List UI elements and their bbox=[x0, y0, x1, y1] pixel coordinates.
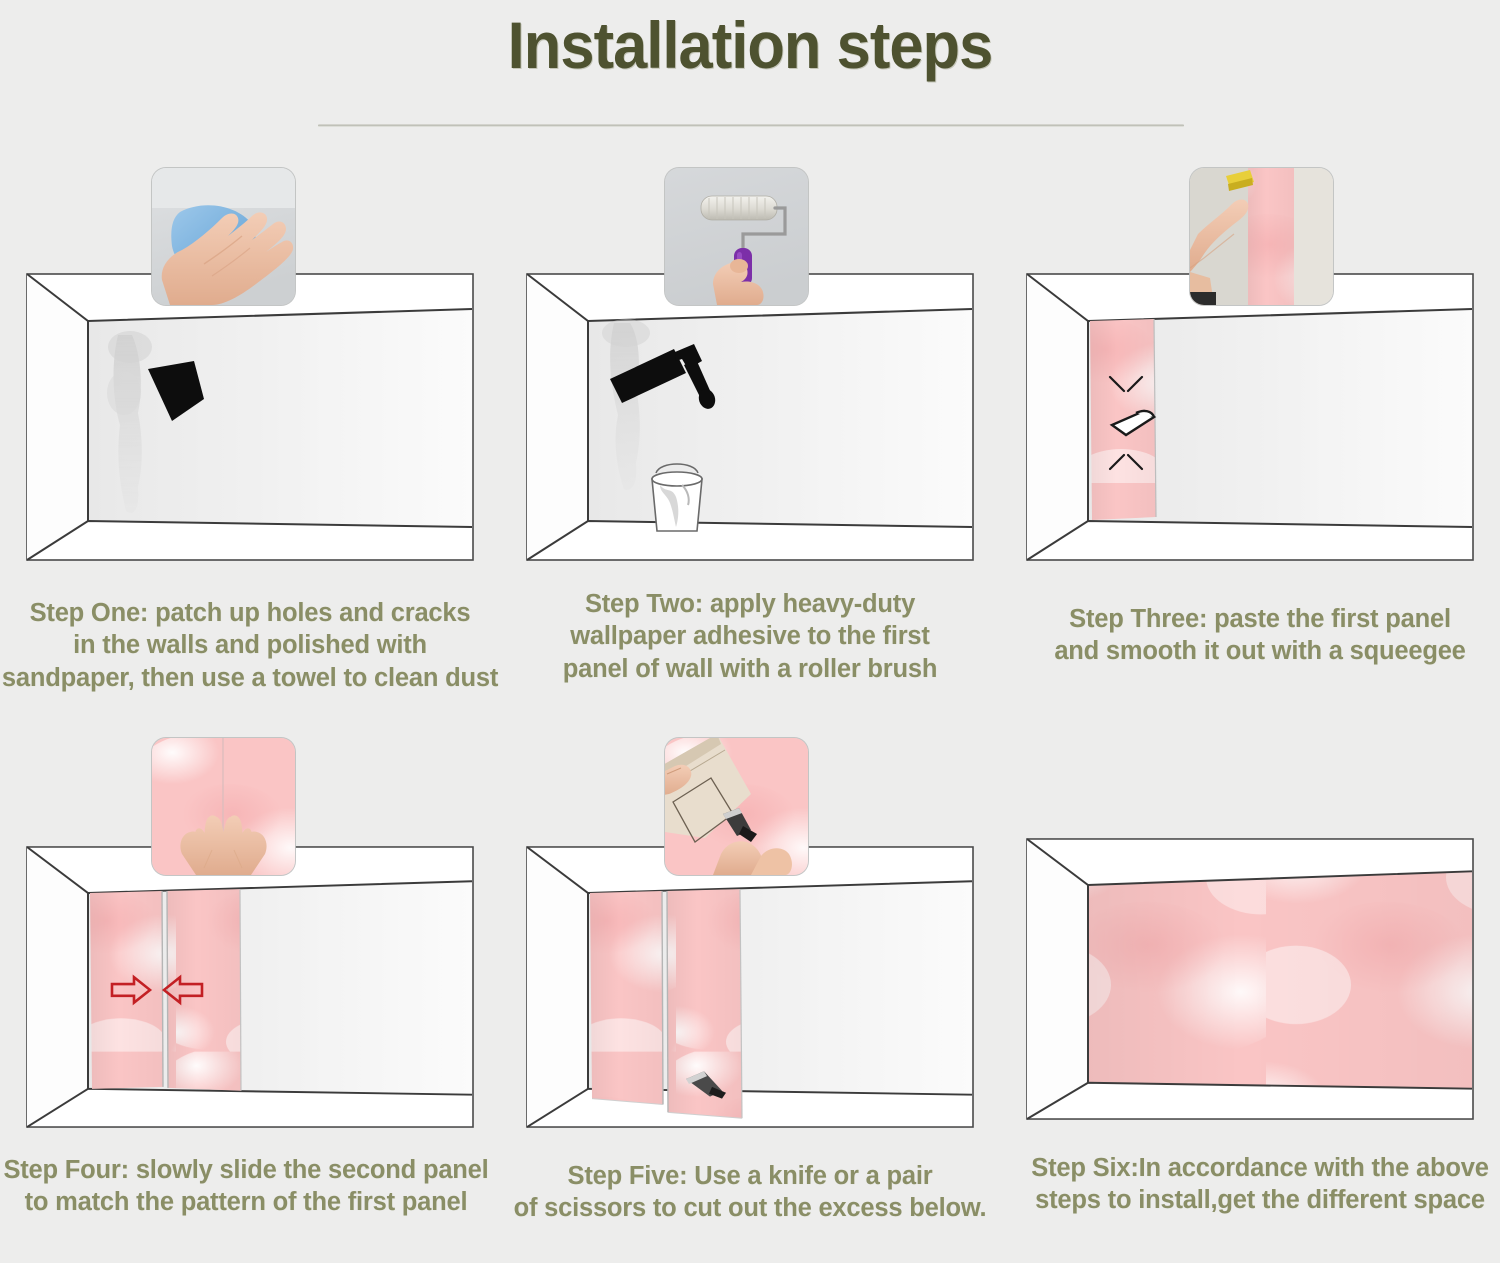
caption-line: steps to install,get the different space bbox=[1010, 1184, 1500, 1216]
step-three-photo bbox=[1190, 168, 1333, 305]
caption-line: Step One: patch up holes and cracks bbox=[0, 597, 500, 629]
step-four-room-diagram bbox=[26, 846, 474, 1128]
step-six-room-diagram bbox=[1026, 838, 1474, 1120]
title-divider bbox=[318, 124, 1184, 127]
header: Installation steps bbox=[0, 8, 1500, 84]
step-five-room-diagram bbox=[526, 846, 974, 1128]
step-two-room-diagram bbox=[526, 273, 974, 561]
step-one-photo bbox=[152, 168, 295, 305]
caption-line: wallpaper adhesive to the first bbox=[500, 620, 1000, 652]
step-four-photo bbox=[152, 738, 295, 875]
step-two-figure bbox=[500, 168, 1000, 568]
step-one-caption: Step One: patch up holes and cracks in t… bbox=[0, 597, 500, 694]
caption-line: of scissors to cut out the excess below. bbox=[500, 1192, 1000, 1224]
caption-line: Step Four: slowly slide the second panel bbox=[0, 1154, 496, 1186]
step-one-room-diagram bbox=[26, 273, 474, 561]
step-three-figure bbox=[1000, 168, 1500, 568]
caption-line: Step Three: paste the first panel bbox=[1010, 603, 1500, 635]
step-five-photo bbox=[665, 738, 808, 875]
step-card-three: Step Three: paste the first panel and sm… bbox=[1000, 168, 1500, 668]
step-five-figure bbox=[500, 738, 1000, 1138]
wallpaper-panel-two bbox=[167, 889, 241, 1091]
step-two-photo bbox=[665, 168, 808, 305]
step-one-figure bbox=[0, 168, 500, 568]
installation-steps-infographic: Installation steps bbox=[0, 0, 1500, 1263]
wallpaper-panel-one-with-excess bbox=[590, 891, 663, 1104]
caption-line: panel of wall with a roller brush bbox=[500, 653, 1000, 685]
caption-line: and smooth it out with a squeegee bbox=[1010, 635, 1500, 667]
glue-bucket-icon bbox=[652, 464, 702, 531]
step-four-caption: Step Four: slowly slide the second panel… bbox=[0, 1154, 496, 1219]
step-five-caption: Step Five: Use a knife or a pair of scis… bbox=[500, 1160, 1000, 1225]
caption-line: Step Six:In accordance with the above bbox=[1010, 1152, 1500, 1184]
step-four-figure bbox=[0, 738, 500, 1138]
step-card-five: Step Five: Use a knife or a pair of scis… bbox=[500, 738, 1000, 1225]
step-three-caption: Step Three: paste the first panel and sm… bbox=[1010, 603, 1500, 668]
caption-line: in the walls and polished with bbox=[0, 629, 500, 661]
step-card-one: Step One: patch up holes and cracks in t… bbox=[0, 168, 500, 694]
step-three-room-diagram bbox=[1026, 273, 1474, 561]
caption-line: Step Five: Use a knife or a pair bbox=[500, 1160, 1000, 1192]
step-card-four: Step Four: slowly slide the second panel… bbox=[0, 738, 500, 1219]
step-card-two: Step Two: apply heavy-duty wallpaper adh… bbox=[500, 168, 1000, 685]
page-title: Installation steps bbox=[53, 8, 1448, 84]
caption-line: to match the pattern of the first panel bbox=[0, 1186, 496, 1218]
step-card-six: Step Six:In accordance with the above st… bbox=[1000, 738, 1500, 1217]
fully-papered-wall bbox=[1088, 871, 1472, 1088]
caption-line: sandpaper, then use a towel to clean dus… bbox=[0, 662, 500, 694]
caption-line: Step Two: apply heavy-duty bbox=[500, 588, 1000, 620]
step-six-figure bbox=[1000, 738, 1500, 1138]
step-two-caption: Step Two: apply heavy-duty wallpaper adh… bbox=[500, 588, 1000, 685]
step-six-caption: Step Six:In accordance with the above st… bbox=[1010, 1152, 1500, 1217]
